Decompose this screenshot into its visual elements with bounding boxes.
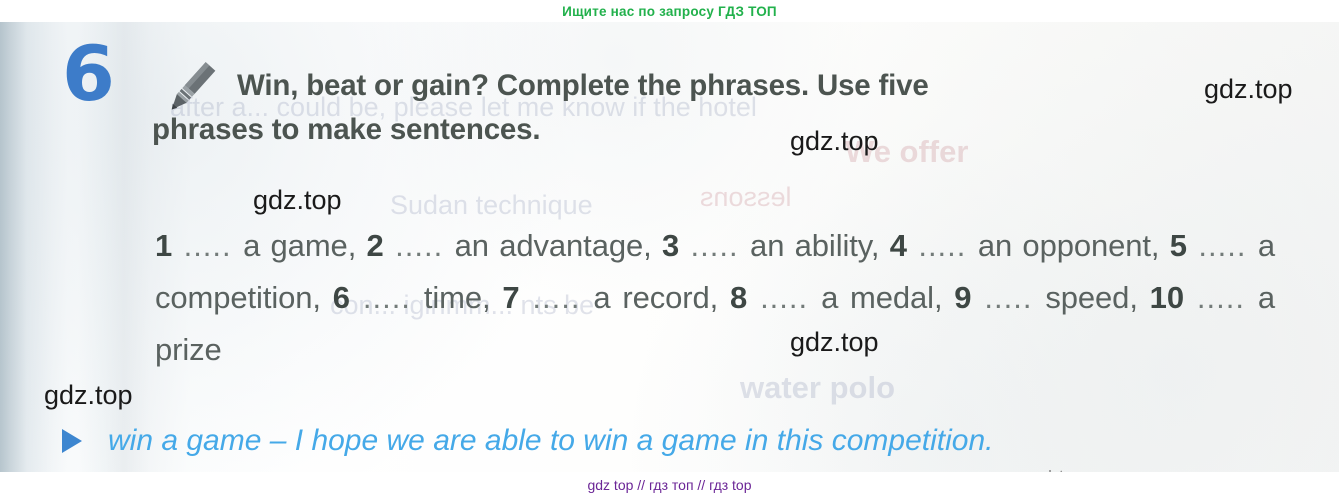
phrase-item-blank: ..... (907, 228, 978, 263)
exercise-title: Win, beat or gain? Complete the phrases.… (152, 64, 1182, 152)
example-row: win a game – I hope we are able to win a… (62, 422, 994, 460)
phrase-item-blank: ..... (520, 280, 594, 315)
phrase-item-number: 8 (730, 280, 747, 315)
phrase-item: 8 ..... a medal, (730, 280, 942, 315)
exercise-number: 6 (62, 36, 115, 112)
phrase-item-blank: ..... (1184, 280, 1258, 315)
phrase-item-number: 5 (1170, 228, 1187, 263)
phrase-item-blank: ..... (350, 280, 424, 315)
watermark: gdz.top (790, 126, 879, 157)
scanned-page: after a... could be, please let me know … (0, 22, 1339, 472)
phrase-item-blank: ..... (384, 228, 455, 263)
watermark: gdz.top (253, 185, 342, 216)
phrase-item-blank: ..... (172, 228, 243, 263)
phrase-item: 2 ..... an advantage, (367, 228, 652, 263)
phrase-item-text: a game, (243, 228, 356, 263)
exercise-title-line2: phrases to make sentences. (152, 113, 540, 146)
top-banner-text: Ищите нас по запросу ГДЗ ТОП (562, 4, 777, 19)
phrase-item-text: a record, (593, 280, 718, 315)
bottom-footer-text: gdz top // гдз топ // гдз top (587, 477, 751, 493)
phrase-item: 7 ..... a record, (502, 280, 718, 315)
phrase-item: 9 ..... speed, (954, 280, 1138, 315)
exercise-content: 6 Win, beat or gain? Complete the phrase… (0, 22, 1339, 472)
phrase-item-number: 4 (890, 228, 907, 263)
phrase-item-text: an ability, (750, 228, 879, 263)
phrase-item-number: 7 (502, 280, 519, 315)
bottom-footer: gdz top // гдз топ // гдз top (0, 472, 1339, 498)
phrase-item-text: time, (424, 280, 491, 315)
phrase-item-number: 10 (1150, 280, 1184, 315)
phrase-item-text: an advantage, (455, 228, 652, 263)
watermark: gdz.top (44, 380, 133, 411)
watermark: gdz.top (1204, 74, 1293, 105)
phrase-item-text: a medal, (821, 280, 942, 315)
phrase-item-blank: ..... (747, 280, 821, 315)
phrase-item-text: speed, (1045, 280, 1137, 315)
phrase-item: 1 ..... a game, (155, 228, 356, 263)
phrase-item: 4 ..... an opponent, (890, 228, 1160, 263)
top-banner: Ищите нас по запросу ГДЗ ТОП (0, 0, 1339, 22)
phrase-item: 6 ..... time, (333, 280, 491, 315)
phrase-item-text: an opponent, (978, 228, 1160, 263)
exercise-title-line1: Win, beat or gain? Complete the phrases.… (152, 69, 929, 102)
phrase-item: 3 ..... an ability, (662, 228, 879, 263)
phrase-item-blank: ..... (971, 280, 1045, 315)
phrase-item-blank: ..... (1187, 228, 1258, 263)
phrase-item-number: 9 (954, 280, 971, 315)
watermark: gdz.top (790, 327, 879, 358)
example-sentence: win a game – I hope we are able to win a… (108, 422, 994, 460)
phrase-item-number: 6 (333, 280, 350, 315)
phrase-item-number: 2 (367, 228, 384, 263)
phrase-item-number: 1 (155, 228, 172, 263)
phrase-item-blank: ..... (679, 228, 750, 263)
phrase-item-number: 3 (662, 228, 679, 263)
triangle-right-icon (62, 429, 82, 453)
phrase-list: 1 ..... a game, 2 ..... an advantage, 3 … (155, 220, 1275, 376)
